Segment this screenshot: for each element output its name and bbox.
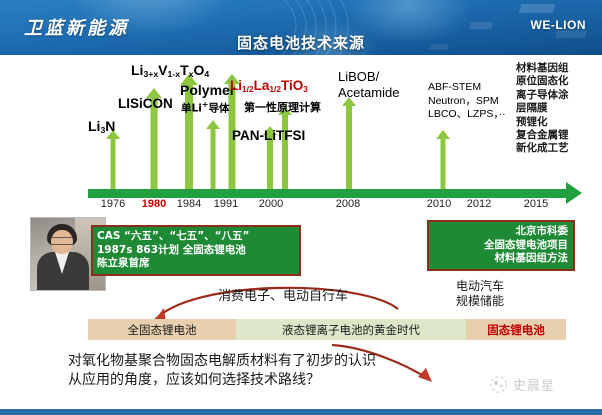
year-tick-2010: 2010	[427, 198, 451, 210]
milestone-arrow-2008	[341, 97, 356, 192]
right-keyword-item: 离子导体涂	[516, 89, 602, 102]
right-keyword-item: 层隔膜	[516, 102, 602, 115]
milestone-arrow-2000b	[277, 106, 292, 192]
info-box-line: CAS “六五”、“七五”、“八五”	[97, 230, 295, 244]
label-lisicon: LISiCON	[118, 97, 173, 111]
watermark: 史晨星	[489, 375, 555, 394]
watermark-text: 史晨星	[513, 375, 555, 394]
info-box-line: 材料基因组方法	[434, 252, 568, 266]
header-block-decor-2	[469, 22, 493, 29]
milestone-arrow-1976	[106, 130, 120, 192]
footer-strip	[0, 409, 602, 415]
year-tick-2015: 2015	[524, 198, 548, 210]
info-box-cas-program: CAS “六五”、“七五”、“八五” 1987s 863计划 全固态锂电池 陈立…	[91, 225, 301, 276]
year-tick-1984: 1984	[177, 198, 201, 210]
conclusion-line-1: 对氧化物基聚合物固态电解质材料有了初步的认识	[68, 352, 528, 371]
label-abf-stem-group: ABF-STEMNeutron，SPMLBCO、LZPS，··	[428, 81, 506, 122]
label-libob-acetamide: LiBOB/Acetamide	[338, 69, 399, 101]
label-li3n: Li3N	[88, 119, 115, 135]
right-keyword-item: 原位固态化	[516, 75, 602, 88]
era-bar: 全固态锂电池 液态锂离子电池的黄金时代 固态锂电池	[88, 319, 566, 340]
label-polymer: Polymer	[180, 83, 235, 98]
caption-ev-line1: 电动汽车	[456, 279, 504, 294]
timeline-axis	[88, 189, 566, 198]
era-segment-solid-state: 固态锂电池	[466, 319, 566, 340]
milestone-arrow-2012	[436, 130, 450, 192]
timeline-axis-arrowhead	[566, 182, 582, 204]
year-tick-2008: 2008	[336, 198, 360, 210]
info-box-beijing-project: 北京市科委 全固态锂电池项目 材料基因组方法	[427, 220, 575, 271]
year-tick-1980: 1980	[142, 198, 166, 210]
right-keyword-item: 新化成工艺	[516, 142, 602, 155]
label-pan-litfsi: PAN-LiTFSI	[232, 129, 305, 143]
header-block-decor-1	[519, 4, 556, 13]
right-keyword-item: 复合金属锂	[516, 129, 602, 142]
slide-root: 卫蓝新能源 WE-LION 固态电池技术来源	[0, 0, 602, 415]
caption-ev-line2: 规模储能	[456, 294, 504, 309]
year-tick-2012: 2012	[467, 198, 491, 210]
conclusion-line-2: 从应用的角度，应该如何选择技术路线？	[68, 371, 528, 390]
label-li3xv1xtxo4: Li3+xV1-xTxO4	[131, 63, 209, 79]
year-tick-2000: 2000	[259, 198, 283, 210]
era-segment-liquid-golden-age: 液态锂离子电池的黄金时代	[236, 319, 466, 340]
slide-title: 固态电池技术来源	[0, 32, 602, 53]
caption-ev-storage: 电动汽车 规模储能	[456, 279, 504, 309]
right-keyword-item: 预锂化	[516, 116, 602, 129]
label-first-principles: 第一性原理计算	[244, 102, 321, 114]
label-polymer-subtitle: 单Li+导体	[181, 101, 230, 115]
conclusion-text: 对氧化物基聚合物固态电解质材料有了初步的认识 从应用的角度，应该如何选择技术路线…	[68, 352, 528, 390]
info-box-line: 北京市科委	[434, 225, 568, 239]
year-tick-1991: 1991	[214, 198, 238, 210]
milestone-arrow-1991a	[206, 120, 219, 192]
era-segment-all-solid-state: 全固态锂电池	[88, 319, 236, 340]
info-box-line: 1987s 863计划 全固态锂电池	[97, 244, 295, 258]
label-li12la12tio3: Li1/2La1/2TiO3	[230, 79, 308, 94]
info-box-line: 陈立泉首席	[97, 257, 295, 271]
caption-consumer-electronics: 消费电子、电动自行车	[218, 285, 348, 304]
slide-header: 卫蓝新能源 WE-LION 固态电池技术来源	[0, 0, 602, 57]
right-keyword-item: 材料基因组	[516, 62, 602, 75]
watermark-logo-icon	[489, 375, 508, 394]
year-tick-1976: 1976	[101, 198, 125, 210]
brand-name-we-lion: WE-LION	[531, 18, 587, 32]
info-box-line: 全固态锂电池项目	[434, 239, 568, 253]
right-keyword-list: 材料基因组 原位固态化 离子导体涂 层隔膜 预锂化 复合金属锂 新化成工艺	[516, 62, 602, 156]
slide-body: Li3N LISiCON Li3+xV1-xTxO4 Polymer 单Li+导…	[0, 57, 602, 415]
